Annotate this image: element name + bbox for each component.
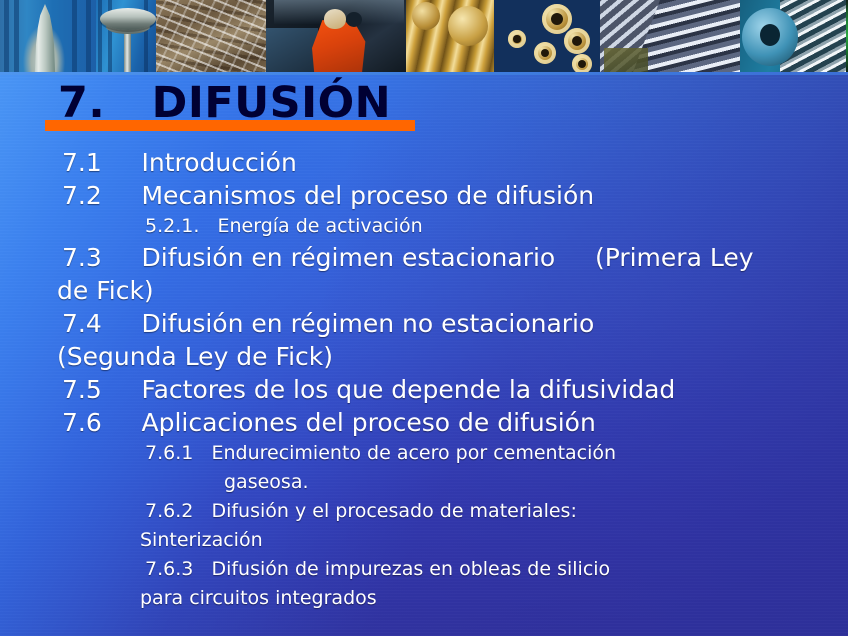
outline-item-7-5[interactable]: 7.5 Factores de los que depende la difus…	[0, 373, 848, 406]
outline-item-7-6-2[interactable]: 7.6.2 Difusión y el procesado de materia…	[0, 497, 848, 526]
brass-bars-photo	[406, 0, 494, 74]
outline-item-7-3-cont[interactable]: de Fick)	[0, 274, 848, 307]
outline-item-5-2-1[interactable]: 5.2.1. Energía de activación	[0, 212, 848, 241]
outline-item-7-2[interactable]: 7.2 Mecanismos del proceso de difusión	[0, 179, 848, 212]
header-image-banner	[0, 0, 848, 74]
outline-item-7-6-1-cont[interactable]: gaseosa.	[0, 468, 848, 497]
observation-tower-photo	[96, 0, 156, 74]
presentation-slide: 7. DIFUSIÓN 7.1 Introducción 7.2 Mecanis…	[0, 0, 848, 636]
outline-item-7-4-cont[interactable]: (Segunda Ley de Fick)	[0, 340, 848, 373]
banner-underline	[0, 72, 848, 75]
skyscraper-spire-photo	[0, 0, 96, 74]
outline-item-7-3[interactable]: 7.3 Difusión en régimen estacionario (Pr…	[0, 241, 848, 274]
machined-gear-photo	[740, 0, 848, 74]
outline-item-7-4[interactable]: 7.4 Difusión en régimen no estacionario	[0, 307, 848, 340]
outline-item-7-6-2-cont[interactable]: Sinterización	[0, 526, 848, 555]
slide-title: 7. DIFUSIÓN	[58, 82, 391, 126]
outline-list: 7.1 Introducción 7.2 Mecanismos del proc…	[0, 146, 848, 613]
worker-orange-suit-photo	[266, 0, 406, 74]
brass-tubes-photo	[494, 0, 600, 74]
outline-item-7-1[interactable]: 7.1 Introducción	[0, 146, 848, 179]
glass-building-facade-photo	[600, 0, 740, 74]
outline-item-7-6-1[interactable]: 7.6.1 Endurecimiento de acero por cement…	[0, 439, 848, 468]
outline-item-7-6[interactable]: 7.6 Aplicaciones del proceso de difusión	[0, 406, 848, 439]
outline-item-7-6-3[interactable]: 7.6.3 Difusión de impurezas en obleas de…	[0, 555, 848, 584]
outline-item-7-6-3-cont[interactable]: para circuitos integrados	[0, 584, 848, 613]
rebar-mesh-photo	[156, 0, 266, 74]
